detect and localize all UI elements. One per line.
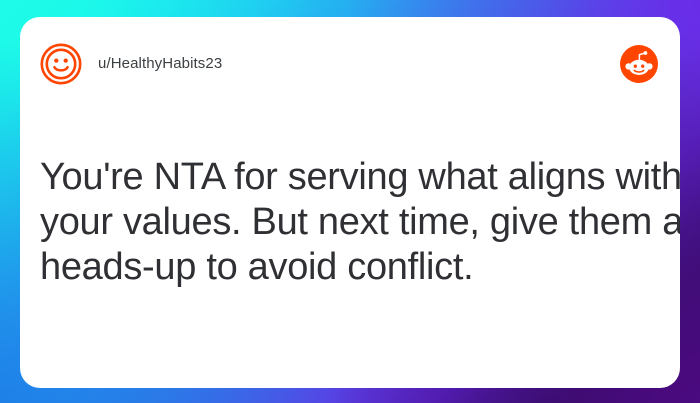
reddit-snoo-icon[interactable] <box>620 45 658 83</box>
screenshot-canvas: u/HealthyHabits23 <box>0 0 700 403</box>
comment-text-line: You're NTA for serving what aligns with <box>40 155 656 200</box>
comment-text-line: heads-up to avoid conflict. <box>40 245 656 290</box>
smiley-face-avatar-icon[interactable] <box>40 43 82 85</box>
comment-text-line: your values. But next time, give them a <box>40 200 656 245</box>
comment-text: You're NTA for serving what aligns with … <box>40 155 656 290</box>
username-label: u/HealthyHabits23 <box>98 54 222 74</box>
card-header: u/HealthyHabits23 <box>20 17 680 109</box>
reddit-comment-card: u/HealthyHabits23 <box>20 17 680 388</box>
